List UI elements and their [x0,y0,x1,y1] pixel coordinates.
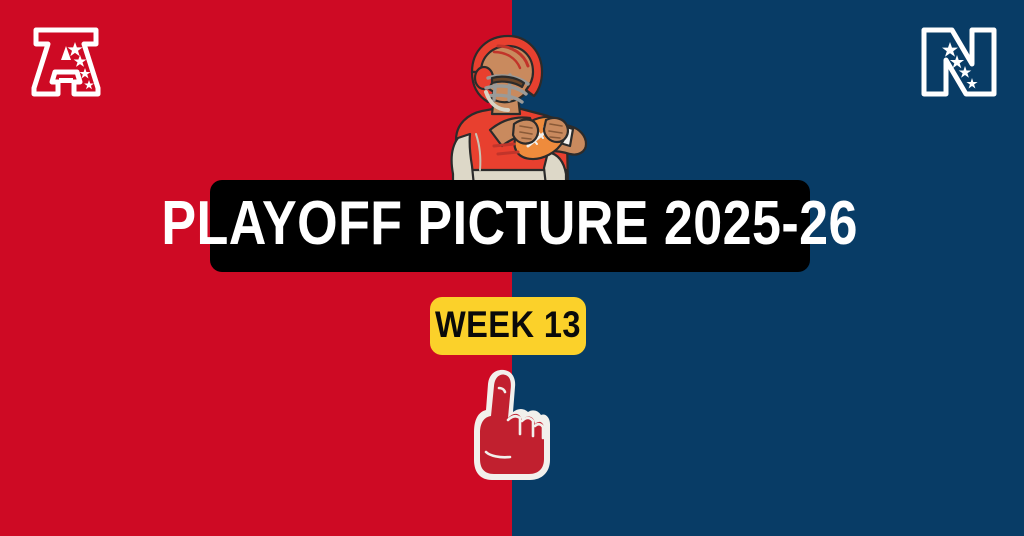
playoff-picture-graphic: PLAYOFF PICTURE 2025-26 WEEK 13 [0,0,1024,536]
foam-finger-icon [466,368,552,482]
nfc-logo-icon [910,22,1006,102]
quarterback-illustration [436,34,602,186]
week-badge-label: WEEK 13 [435,306,581,346]
page-title: PLAYOFF PICTURE 2025-26 [162,193,859,259]
afc-logo-icon [18,22,114,102]
title-plate: PLAYOFF PICTURE 2025-26 [210,180,810,272]
week-badge: WEEK 13 [430,297,586,355]
